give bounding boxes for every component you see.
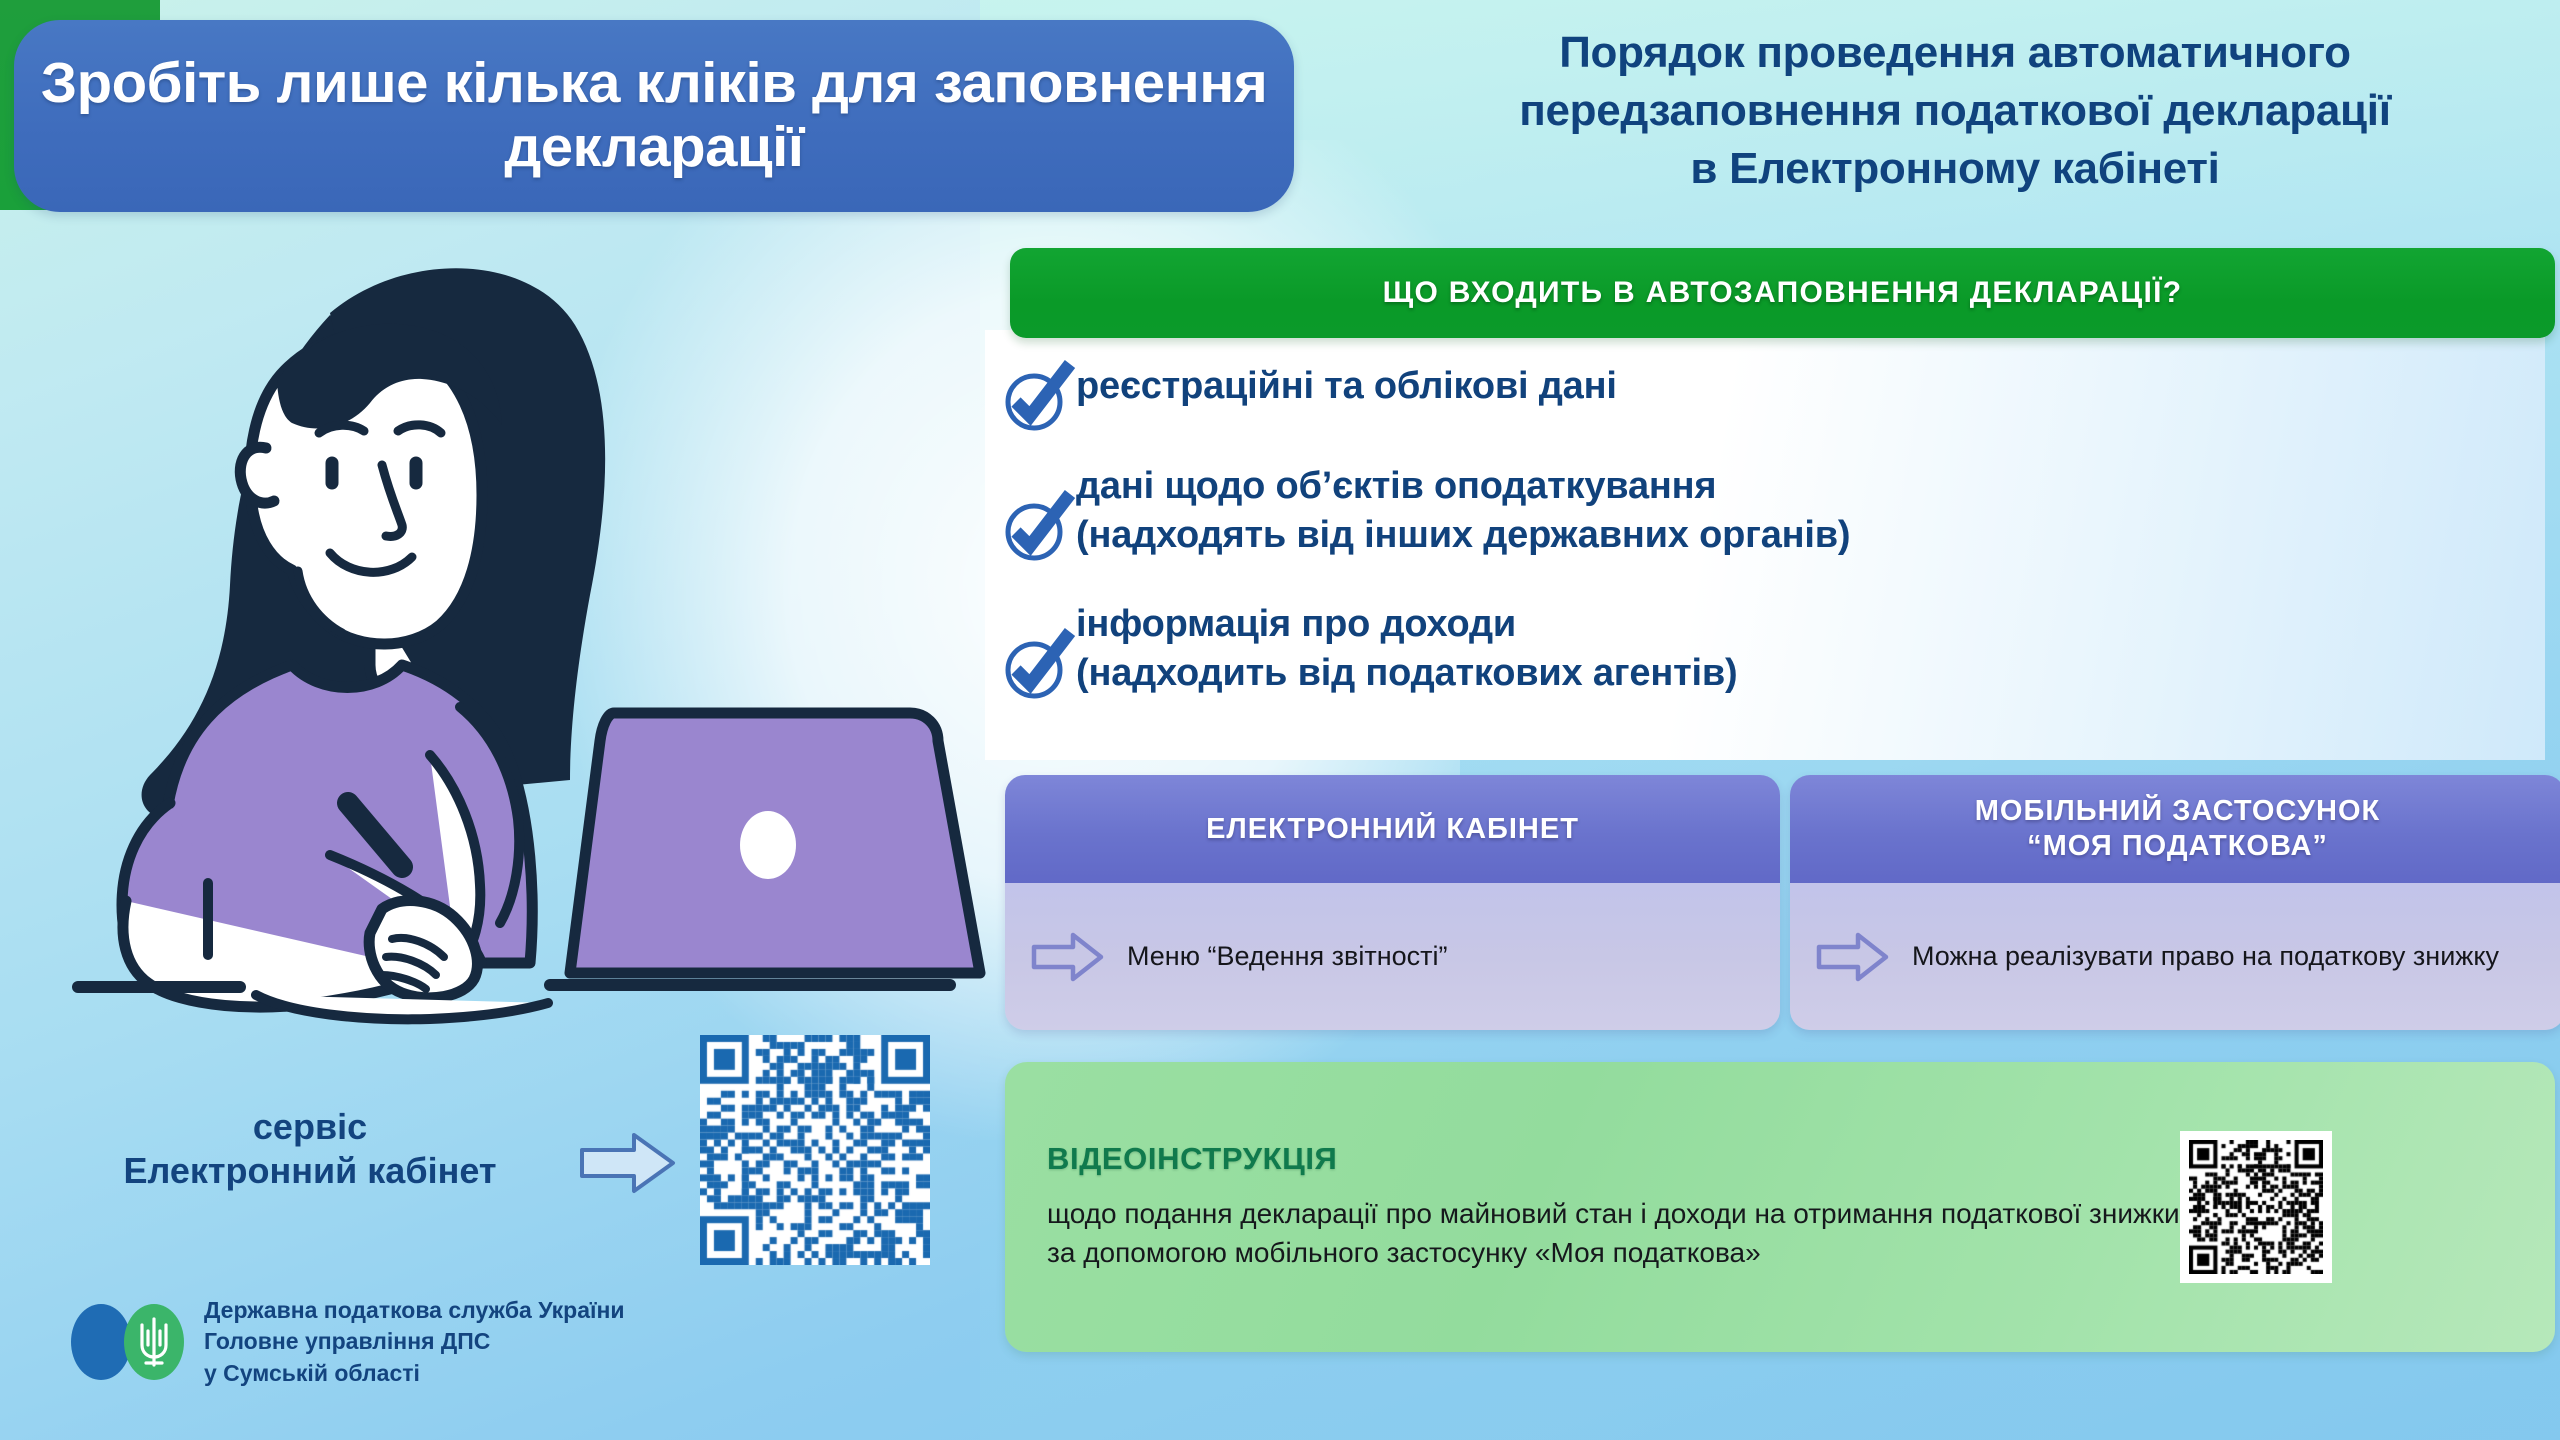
service-label-line-2: Електронний кабінет (20, 1149, 600, 1193)
checklist-item-label: дані щодо об’єктів оподаткування (надход… (1076, 458, 1850, 559)
card-electronic-cabinet-header: ЕЛЕКТРОННИЙ КАБІНЕТ (1005, 775, 1780, 883)
card-mobile-app[interactable]: МОБІЛЬНИЙ ЗАСТОСУНОК “МОЯ ПОДАТКОВА” Мож… (1790, 775, 2560, 1030)
document-heading-line-1: Порядок проведення автоматичного (1370, 24, 2540, 82)
document-heading: Порядок проведення автоматичного передза… (1370, 24, 2540, 198)
circle-blue-icon (71, 1304, 131, 1380)
arrow-right-icon (1031, 931, 1105, 983)
checklist-item: дані щодо об’єктів оподаткування (надход… (1000, 458, 2520, 566)
document-heading-line-3: в Електронному кабінеті (1370, 140, 2540, 198)
footer-organization-name: Державна податкова служба України Головн… (204, 1295, 625, 1389)
arrow-right-icon (1816, 931, 1890, 983)
woman-with-laptop-illustration (30, 195, 1020, 1085)
dps-logo (68, 1297, 188, 1387)
service-label-line-1: сервіс (20, 1105, 600, 1149)
card-mobile-app-body: Можна реалізувати право на податкову зни… (1790, 883, 2560, 1030)
video-instruction-title: ВІДЕОІНСТРУКЦІЯ (1047, 1141, 2180, 1177)
hero-title-text: Зробіть лише кілька кліків для заповненн… (1, 52, 1307, 180)
card-electronic-cabinet-body: Меню “Ведення звітності” (1005, 883, 1780, 1030)
checklist-item: реєстраційні та облікові дані (1000, 358, 2520, 436)
footer: Державна податкова служба України Головн… (68, 1295, 625, 1389)
checklist: реєстраційні та облікові дані дані щодо … (1000, 358, 2520, 718)
video-instruction-description: щодо подання декларації про майновий ста… (1047, 1195, 2180, 1272)
checklist-item-label: реєстраційні та облікові дані (1076, 358, 1617, 411)
arrow-right-icon (578, 1130, 678, 1196)
checklist-item-label: інформація про доходи (надходить від под… (1076, 596, 1737, 697)
document-heading-line-2: передзаповнення податкової декларації (1370, 82, 2540, 140)
card-electronic-cabinet[interactable]: ЕЛЕКТРОННИЙ КАБІНЕТ Меню “Ведення звітно… (1005, 775, 1780, 1030)
section-banner-autofill: ЩО ВХОДИТЬ В АВТОЗАПОВНЕННЯ ДЕКЛАРАЦІЇ? (1010, 248, 2555, 338)
card-electronic-cabinet-title: ЕЛЕКТРОННИЙ КАБІНЕТ (1206, 812, 1579, 847)
card-mobile-app-header: МОБІЛЬНИЙ ЗАСТОСУНОК “МОЯ ПОДАТКОВА” (1790, 775, 2560, 883)
hero-title-banner: Зробіть лише кілька кліків для заповненн… (14, 20, 1294, 212)
checklist-item: інформація про доходи (надходить від под… (1000, 596, 2520, 704)
footer-line-2: Головне управління ДПС (204, 1326, 625, 1357)
card-electronic-cabinet-text: Меню “Ведення звітності” (1127, 939, 1447, 974)
card-video-instruction[interactable]: ВІДЕОІНСТРУКЦІЯ щодо подання декларації … (1005, 1062, 2555, 1352)
qr-code-video[interactable] (2180, 1131, 2332, 1283)
video-instruction-text-block: ВІДЕОІНСТРУКЦІЯ щодо подання декларації … (1005, 1141, 2180, 1272)
card-mobile-app-text: Можна реалізувати право на податкову зни… (1912, 939, 2499, 974)
footer-line-1: Державна податкова служба України (204, 1295, 625, 1326)
card-mobile-app-title: МОБІЛЬНИЙ ЗАСТОСУНОК “МОЯ ПОДАТКОВА” (1975, 794, 2380, 864)
footer-line-3: у Сумській області (204, 1358, 625, 1389)
service-label: сервіс Електронний кабінет (20, 1105, 600, 1193)
section-banner-label: ЩО ВХОДИТЬ В АВТОЗАПОВНЕННЯ ДЕКЛАРАЦІЇ? (1383, 276, 2183, 310)
